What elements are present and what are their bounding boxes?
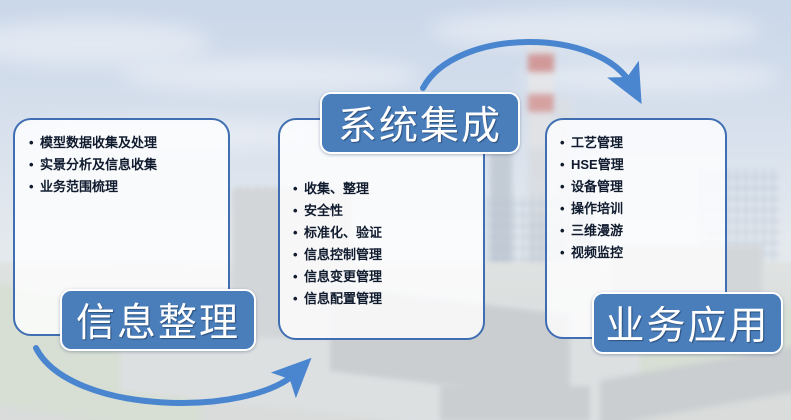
list-item: 信息变更管理 (293, 266, 382, 288)
list-item: 模型数据收集及处理 (29, 132, 157, 154)
list-item: 业务范围梳理 (29, 176, 157, 198)
list-item: 实景分析及信息收集 (29, 154, 157, 176)
stage-3-item-list: 工艺管理 HSE管理 设备管理 操作培训 三维漫游 视频监控 (560, 132, 624, 264)
list-item: 信息配置管理 (293, 288, 382, 310)
arrow-stage2-to-stage3 (423, 42, 632, 88)
stage-2-item-list: 收集、整理 安全性 标准化、验证 信息控制管理 信息变更管理 信息配置管理 (293, 178, 382, 310)
list-item: 三维漫游 (560, 220, 624, 242)
list-item: 收集、整理 (293, 178, 382, 200)
stage-1-item-list: 模型数据收集及处理 实景分析及信息收集 业务范围梳理 (29, 132, 157, 198)
list-item: 设备管理 (560, 176, 624, 198)
diagram-canvas: 模型数据收集及处理 实景分析及信息收集 业务范围梳理 收集、整理 安全性 标准化… (0, 0, 791, 420)
list-item: 视频监控 (560, 242, 624, 264)
stage-label-business-application[interactable]: 业务应用 (592, 292, 783, 354)
list-item: 标准化、验证 (293, 222, 382, 244)
list-item: 信息控制管理 (293, 244, 382, 266)
list-item: HSE管理 (560, 154, 624, 176)
stage-label-information-organization[interactable]: 信息整理 (60, 289, 256, 351)
list-item: 工艺管理 (560, 132, 624, 154)
list-item: 操作培训 (560, 198, 624, 220)
arrow-stage1-to-stage2 (36, 348, 297, 403)
list-item: 安全性 (293, 200, 382, 222)
stage-label-system-integration[interactable]: 系统集成 (320, 92, 520, 154)
